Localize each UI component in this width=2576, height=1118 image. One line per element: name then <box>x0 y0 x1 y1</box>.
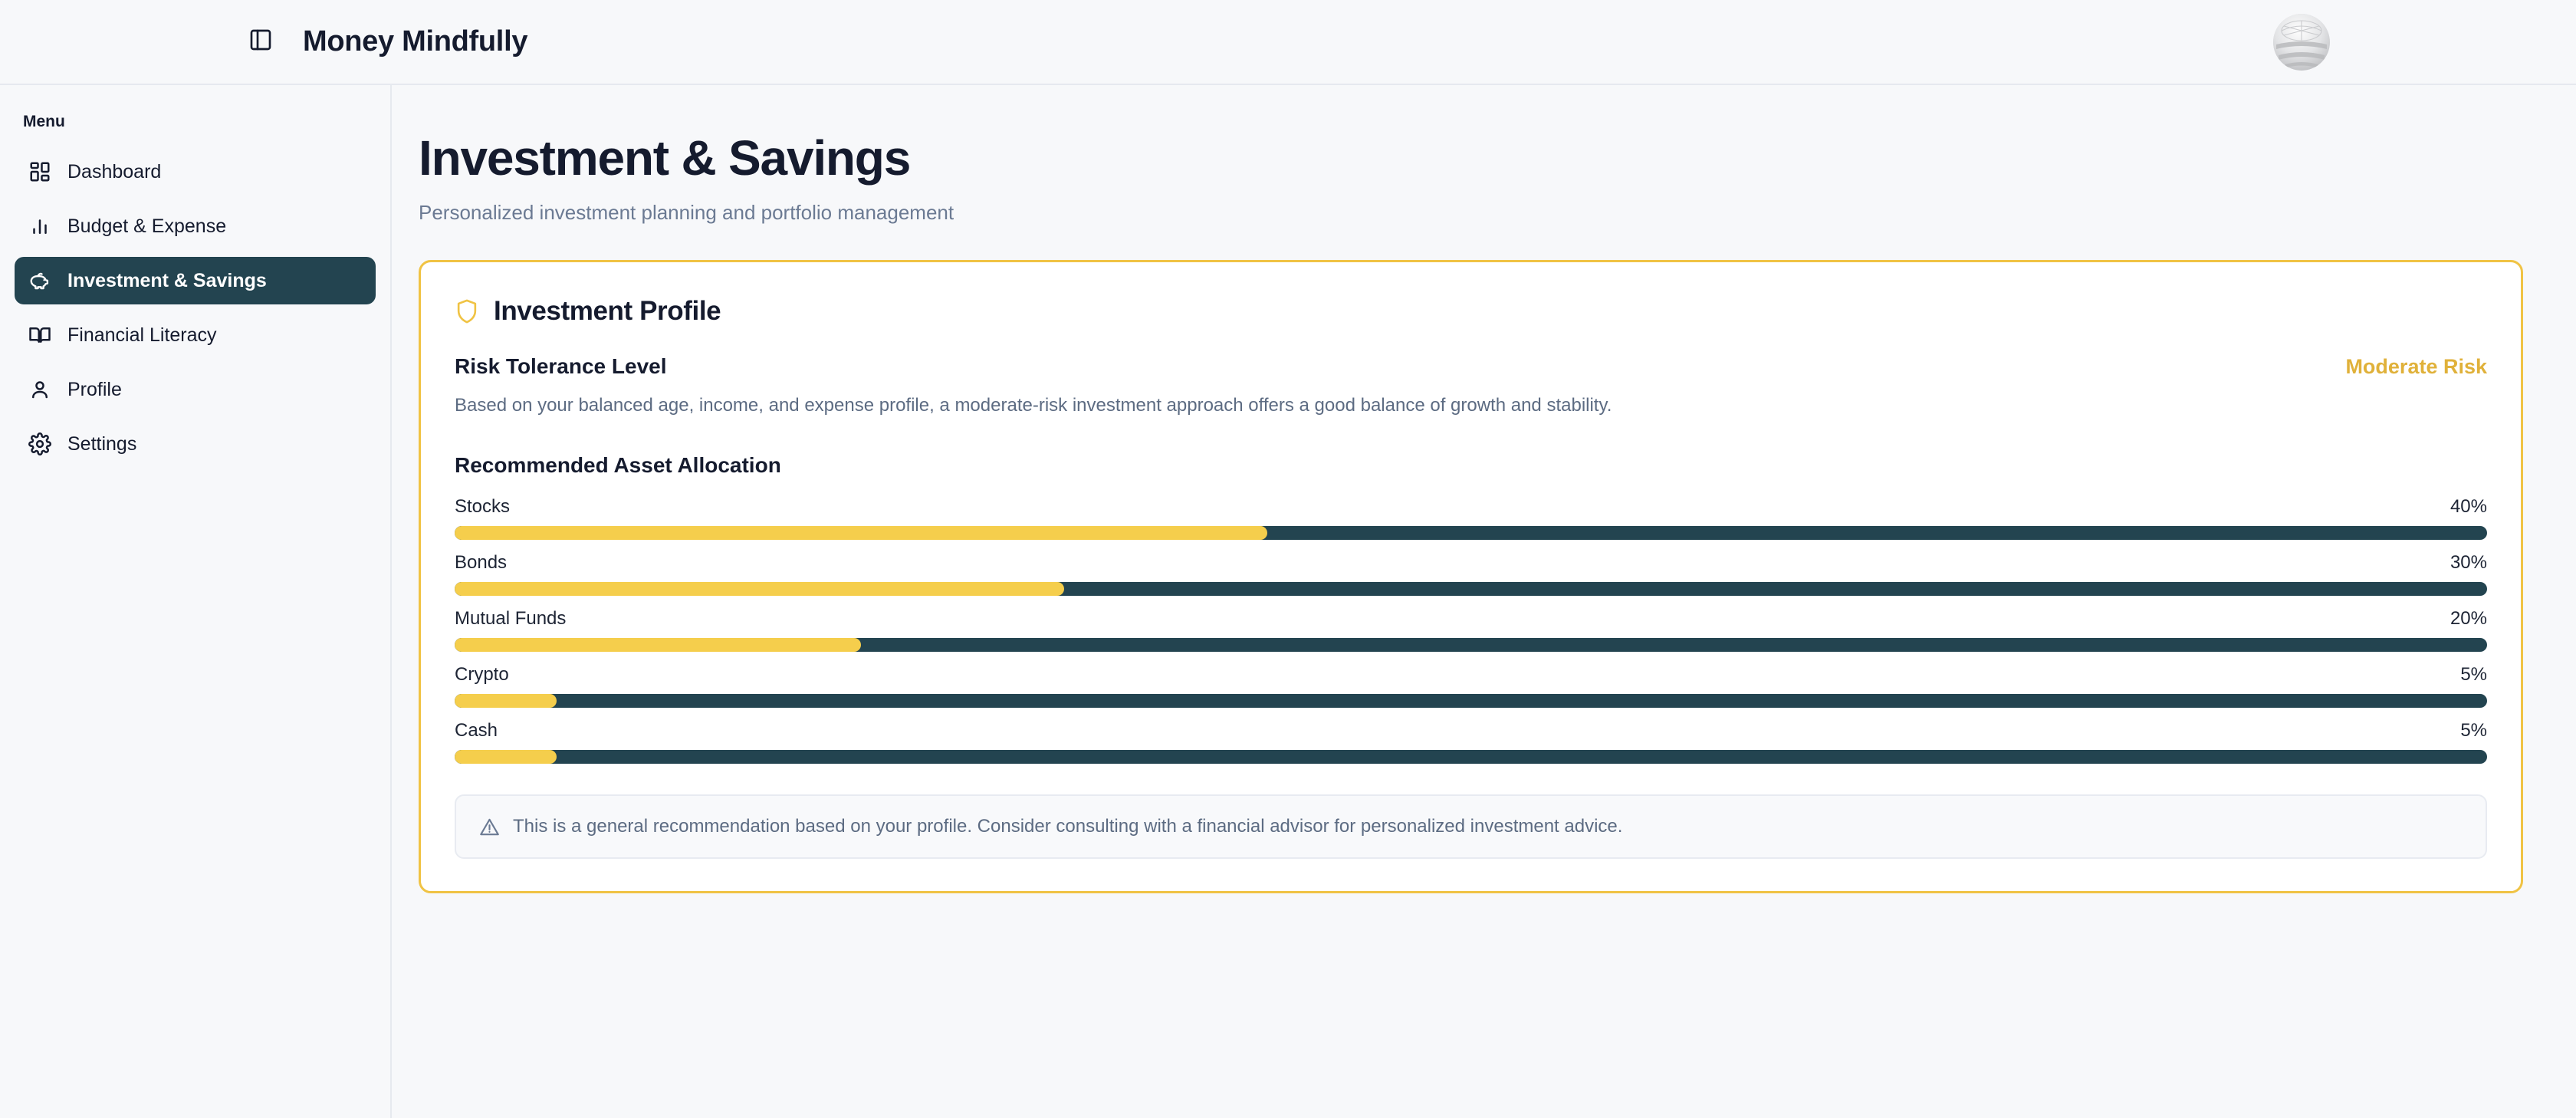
allocation-row: Stocks 40% <box>455 496 2487 540</box>
allocation-bar-track <box>455 638 2487 652</box>
sidebar-item-settings[interactable]: Settings <box>15 420 376 468</box>
allocation-bar-fill <box>455 750 557 764</box>
grid-icon <box>27 159 53 185</box>
allocation-name: Mutual Funds <box>455 608 566 630</box>
sidebar-item-label: Investment & Savings <box>67 270 267 292</box>
risk-description: Based on your balanced age, income, and … <box>455 395 2487 416</box>
allocation-percent: 20% <box>2450 608 2487 630</box>
sidebar-toggle-button[interactable] <box>244 25 278 59</box>
allocation-name: Cash <box>455 720 498 741</box>
investment-profile-card: Investment Profile Risk Tolerance Level … <box>419 260 2523 893</box>
sidebar-item-financial-literacy[interactable]: Financial Literacy <box>15 311 376 359</box>
warning-triangle-icon <box>479 817 500 837</box>
allocation-bar-fill <box>455 526 1267 540</box>
avatar-image <box>2273 14 2330 71</box>
sidebar: Menu Dashboard Budget & Expense Investme… <box>0 85 392 1118</box>
page-subtitle: Personalized investment planning and por… <box>419 201 2521 225</box>
sidebar-item-label: Financial Literacy <box>67 324 217 347</box>
sidebar-item-label: Profile <box>67 379 122 401</box>
allocation-bar-track <box>455 526 2487 540</box>
allocation-percent: 5% <box>2460 720 2487 741</box>
book-open-icon <box>27 322 53 348</box>
sidebar-item-label: Budget & Expense <box>67 215 226 238</box>
piggy-bank-icon <box>27 268 53 294</box>
bar-chart-icon <box>27 213 53 239</box>
allocation-bar-track <box>455 582 2487 596</box>
risk-status-badge: Moderate Risk <box>2345 355 2487 379</box>
allocation-row: Bonds 30% <box>455 552 2487 596</box>
risk-tolerance-label: Risk Tolerance Level <box>455 354 667 379</box>
allocation-name: Bonds <box>455 552 507 574</box>
disclaimer-note: This is a general recommendation based o… <box>455 794 2487 859</box>
allocation-percent: 5% <box>2460 664 2487 686</box>
allocation-bar-track <box>455 694 2487 708</box>
allocation-row: Cash 5% <box>455 720 2487 764</box>
allocation-bar-fill <box>455 638 861 652</box>
user-icon <box>27 377 53 403</box>
allocation-bar-track <box>455 750 2487 764</box>
allocation-row: Mutual Funds 20% <box>455 608 2487 652</box>
sidebar-item-label: Dashboard <box>67 161 161 183</box>
sidebar-item-budget-expense[interactable]: Budget & Expense <box>15 202 376 250</box>
sidebar-item-label: Settings <box>67 433 136 455</box>
app-header: Money Mindfully <box>0 0 2576 85</box>
risk-tolerance-row: Risk Tolerance Level Moderate Risk <box>455 354 2487 379</box>
gear-icon <box>27 431 53 457</box>
allocation-bar-fill <box>455 694 557 708</box>
card-title: Investment Profile <box>494 296 721 327</box>
allocation-name: Crypto <box>455 664 509 686</box>
disclaimer-text: This is a general recommendation based o… <box>513 816 1622 837</box>
page-title: Investment & Savings <box>419 133 2521 184</box>
sidebar-item-profile[interactable]: Profile <box>15 366 376 413</box>
avatar[interactable] <box>2273 14 2330 71</box>
app-title: Money Mindfully <box>303 25 527 58</box>
shield-icon <box>455 298 479 324</box>
sidebar-item-investment-savings[interactable]: Investment & Savings <box>15 257 376 304</box>
allocation-percent: 30% <box>2450 552 2487 574</box>
sidebar-toggle-icon <box>248 28 273 56</box>
sidebar-item-dashboard[interactable]: Dashboard <box>15 148 376 196</box>
allocation-row: Crypto 5% <box>455 664 2487 708</box>
main-content: Investment & Savings Personalized invest… <box>392 85 2576 1118</box>
card-header: Investment Profile <box>455 296 2487 327</box>
allocation-title: Recommended Asset Allocation <box>455 453 2487 478</box>
allocation-bar-fill <box>455 582 1064 596</box>
allocation-name: Stocks <box>455 496 510 518</box>
sidebar-section-label: Menu <box>0 113 390 131</box>
allocation-percent: 40% <box>2450 496 2487 518</box>
